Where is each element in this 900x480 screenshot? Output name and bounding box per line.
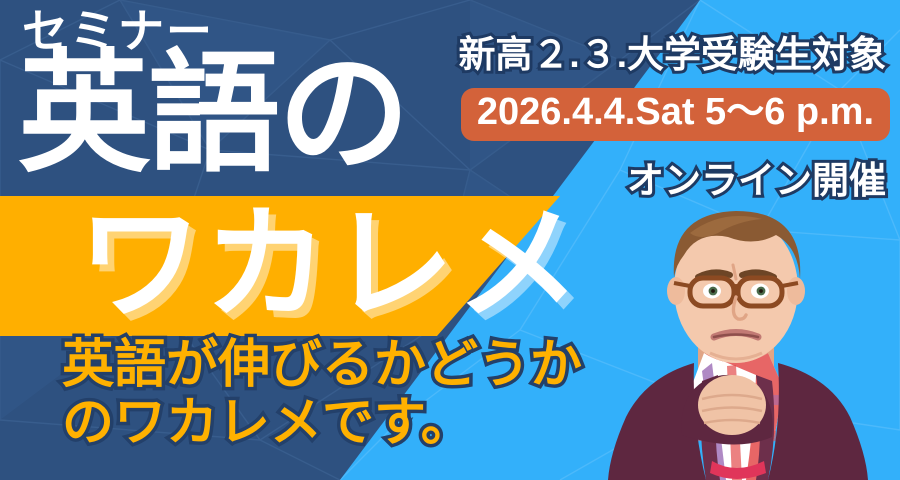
lead-copy: 英語が伸びるかどうか のワカレメです。 [62,336,582,452]
seminar-poster: セミナー 英語の ワカレメ 英語が伸びるかどうか のワカレメです。 新高２.３.… [0,0,900,480]
page-title: 英語の [18,48,408,180]
band-title: ワカレメ [78,196,582,334]
head [667,211,805,363]
target-audience-label: 新高２.３.大学受験生対象 [458,24,886,78]
date-time-badge: 2026.4.4.Sat 5〜6 p.m. [461,88,890,141]
presenter-photo [586,185,886,480]
